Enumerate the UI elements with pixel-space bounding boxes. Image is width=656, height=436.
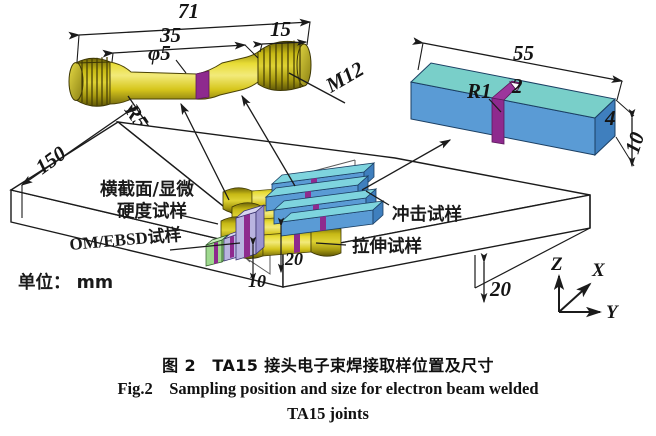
dim-R1-text: R1: [466, 79, 492, 103]
axis-triad: Z X Y: [550, 254, 620, 323]
tensile-specimen-drawing: 71 35 15 φ5 R5 M12: [69, 0, 368, 133]
dim-20-cluster-text: 20: [284, 249, 303, 269]
tensile-right-thread: [258, 40, 311, 90]
dim-20-plate: 20: [484, 262, 512, 302]
dim-4-text: 4: [604, 106, 616, 130]
tensile-left-thread: [69, 57, 110, 106]
dim-71-text: 71: [178, 0, 199, 23]
dim-20-plate-text: 20: [489, 277, 512, 301]
dim-10-cluster-text: 10: [248, 271, 266, 291]
axis-y-label: Y: [606, 302, 620, 323]
dim-phi5-text: φ5: [148, 41, 171, 65]
label-cross-section-line1: 横截面/显微: [100, 179, 194, 200]
label-tensile: 拉伸试样: [352, 236, 422, 257]
label-cross-section-line2: 硬度试样: [117, 201, 187, 222]
dim-4: 4: [604, 106, 616, 130]
caption-english-line2: TA15 joints: [0, 404, 656, 424]
axis-z-label: Z: [550, 254, 563, 275]
label-units: 单位： mm: [18, 272, 113, 293]
dim-55-text: 55: [513, 41, 534, 65]
tensile-gauge-section: [110, 52, 258, 104]
dim-10-impact-text: 10: [620, 129, 649, 157]
axis-x-label: X: [591, 260, 606, 281]
impact-specimen-drawing: 55 R1 2 4 10: [411, 41, 649, 166]
dim-M12-text: M12: [321, 56, 369, 97]
dim-10-impact: 10: [616, 100, 649, 166]
caption-chinese: 图 2 TA15 接头电子束焊接取样位置及尺寸: [0, 352, 656, 376]
caption-english-line1: Fig.2 Sampling position and size for ele…: [0, 379, 656, 399]
dim-15-text: 15: [270, 17, 291, 41]
figure-root: 71 35 15 φ5 R5 M12: [0, 0, 656, 436]
dim-2-text: 2: [511, 74, 523, 98]
label-impact: 冲击试样: [392, 204, 462, 225]
